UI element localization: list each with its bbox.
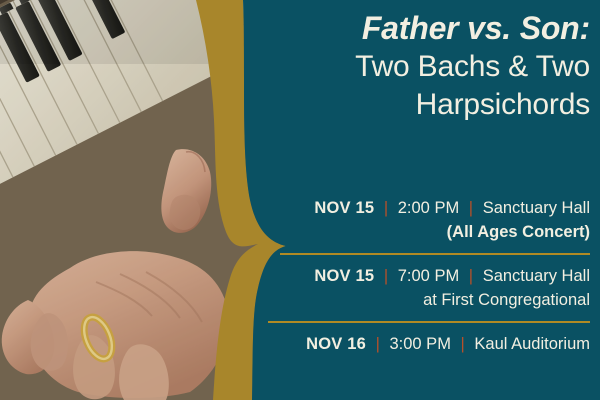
separator-pipe: | <box>464 267 478 285</box>
event-item: NOV 16 | 3:00 PM | Kaul Auditorium <box>258 332 590 356</box>
event-item: NOV 15 | 2:00 PM | Sanctuary Hall (All A… <box>258 196 590 244</box>
event-list: NOV 15 | 2:00 PM | Sanctuary Hall (All A… <box>258 196 590 356</box>
event-venue: Kaul Auditorium <box>474 335 590 353</box>
concert-poster: Father vs. Son: Two Bachs & Two Harpsich… <box>0 0 600 400</box>
event-divider-rule <box>268 321 590 323</box>
event-time: 3:00 PM <box>389 335 450 353</box>
title-line-1: Father vs. Son: <box>258 8 590 48</box>
event-line-main: NOV 15 | 7:00 PM | Sanctuary Hall <box>258 264 590 288</box>
event-note: (All Ages Concert) <box>258 220 590 244</box>
event-venue: Sanctuary Hall <box>483 267 590 285</box>
title-line-3: Harpsichords <box>258 86 590 124</box>
separator-pipe: | <box>371 335 385 353</box>
event-date: NOV 15 <box>314 267 374 285</box>
event-date: NOV 16 <box>306 335 366 353</box>
separator-pipe: | <box>379 199 393 217</box>
separator-pipe: | <box>464 199 478 217</box>
event-divider-rule <box>280 253 590 255</box>
title-line-2: Two Bachs & Two <box>258 48 590 86</box>
event-note: at First Congregational <box>258 288 590 312</box>
separator-pipe: | <box>456 335 470 353</box>
poster-title: Father vs. Son: Two Bachs & Two Harpsich… <box>258 8 590 124</box>
event-venue: Sanctuary Hall <box>483 199 590 217</box>
event-line-main: NOV 15 | 2:00 PM | Sanctuary Hall <box>258 196 590 220</box>
event-line-main: NOV 16 | 3:00 PM | Kaul Auditorium <box>258 332 590 356</box>
event-time: 7:00 PM <box>398 267 459 285</box>
event-item: NOV 15 | 7:00 PM | Sanctuary Hall at Fir… <box>258 264 590 312</box>
separator-pipe: | <box>379 267 393 285</box>
event-time: 2:00 PM <box>398 199 459 217</box>
event-date: NOV 15 <box>314 199 374 217</box>
poster-content: Father vs. Son: Two Bachs & Two Harpsich… <box>258 0 600 400</box>
